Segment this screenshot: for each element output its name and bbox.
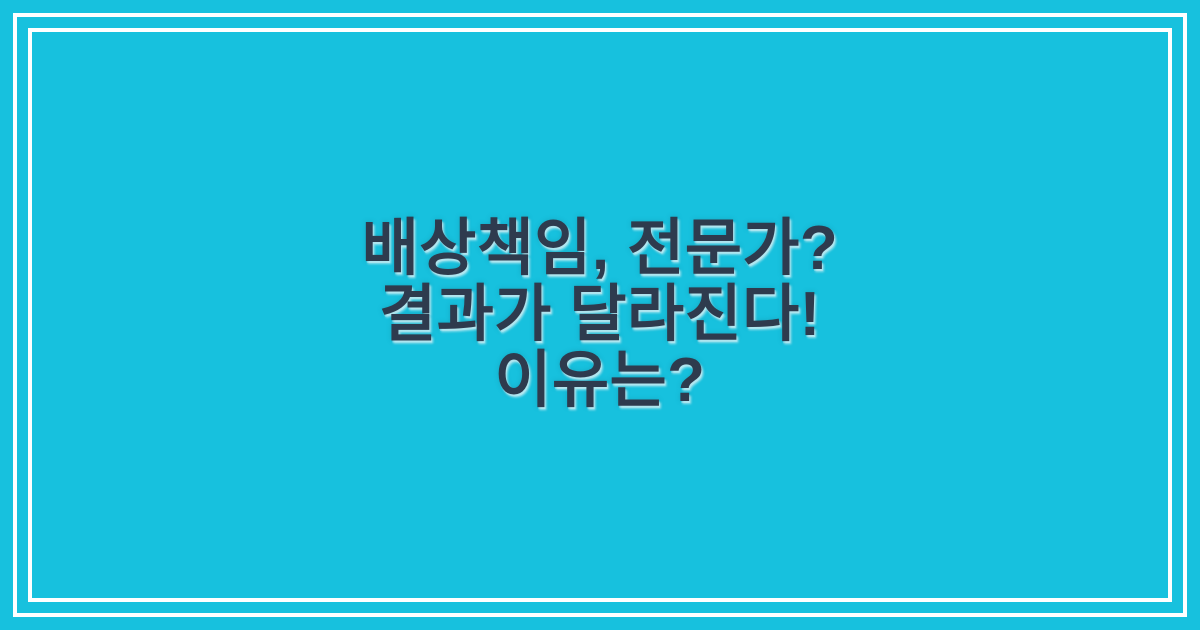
content-area: 배상책임, 전문가? 결과가 달라진다! 이유는? [0, 0, 1200, 630]
title-line-1: 배상책임, 전문가? [70, 216, 1130, 282]
thumbnail-card: 배상책임, 전문가? 결과가 달라진다! 이유는? [0, 0, 1200, 630]
page-title: 배상책임, 전문가? 결과가 달라진다! 이유는? [70, 216, 1130, 414]
title-line-2: 결과가 달라진다! [70, 282, 1130, 348]
title-line-3: 이유는? [70, 348, 1130, 414]
